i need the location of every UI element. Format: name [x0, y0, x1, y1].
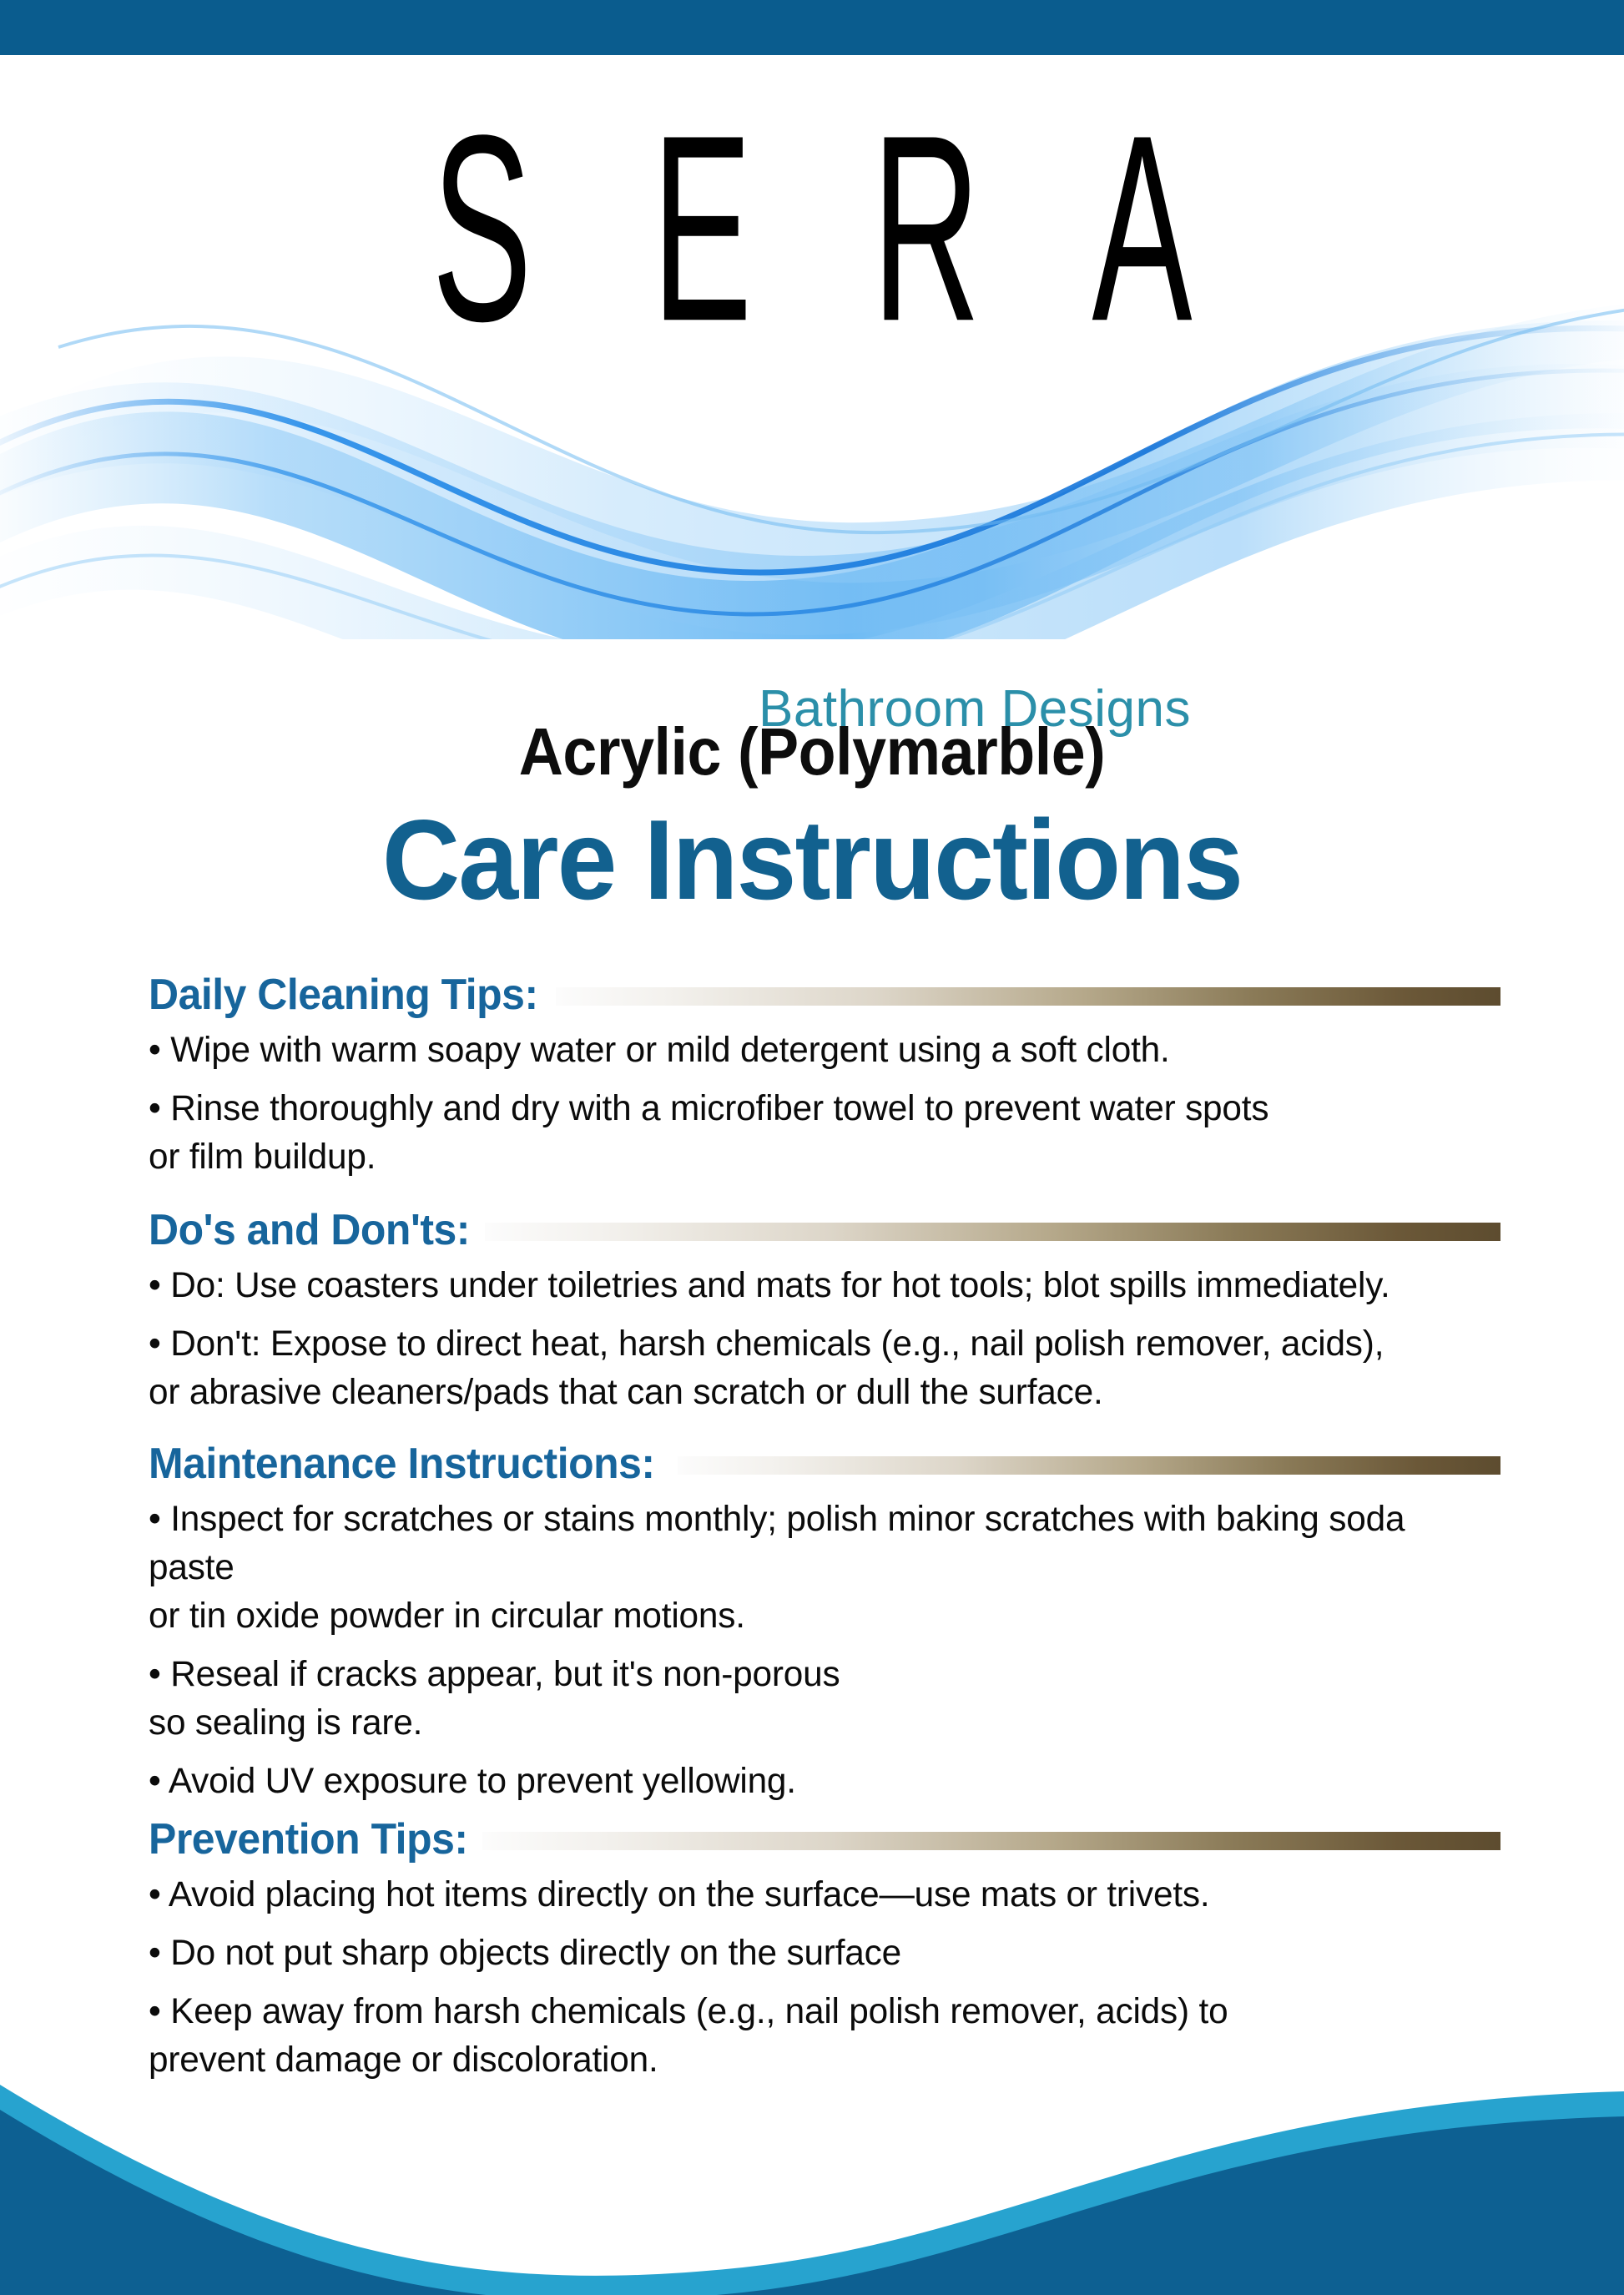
section-heading: Prevention Tips: — [149, 1814, 468, 1864]
section-divider-rule — [482, 1832, 1500, 1850]
list-item: • Do not put sharp objects directly on t… — [149, 1929, 1480, 1977]
section-header: Maintenance Instructions: — [149, 1440, 1500, 1488]
brand-logo-block: S E R A — [0, 55, 1624, 689]
list-item: • Avoid UV exposure to prevent yellowing… — [149, 1757, 1480, 1805]
section-heading: Do's and Don'ts: — [149, 1205, 470, 1255]
section-divider-rule — [485, 1223, 1500, 1241]
section-daily-cleaning-tips: Daily Cleaning Tips: • Wipe with warm so… — [149, 971, 1500, 1181]
instructions-content: Daily Cleaning Tips: • Wipe with warm so… — [149, 971, 1500, 2094]
section-header: Daily Cleaning Tips: — [149, 971, 1500, 1019]
top-accent-bar — [0, 0, 1624, 55]
section-divider-rule — [678, 1456, 1500, 1475]
blue-flow-wave-icon — [0, 222, 1624, 639]
list-item: • Reseal if cracks appear, but it's non-… — [149, 1650, 1480, 1747]
section-header: Prevention Tips: — [149, 1815, 1500, 1864]
section-maintenance-instructions: Maintenance Instructions: • Inspect for … — [149, 1440, 1500, 1805]
bullet-list: • Inspect for scratches or stains monthl… — [149, 1495, 1500, 1805]
list-item: • Rinse thoroughly and dry with a microf… — [149, 1084, 1480, 1181]
list-item: • Don't: Expose to direct heat, harsh ch… — [149, 1319, 1480, 1416]
care-instructions-poster: S E R A — [0, 0, 1624, 2295]
section-header: Do's and Don'ts: — [149, 1206, 1500, 1254]
bullet-list: • Wipe with warm soapy water or mild det… — [149, 1026, 1500, 1181]
section-heading: Maintenance Instructions: — [149, 1439, 655, 1489]
section-heading: Daily Cleaning Tips: — [149, 970, 538, 1020]
section-divider-rule — [556, 987, 1500, 1006]
list-item: • Inspect for scratches or stains monthl… — [149, 1495, 1480, 1640]
list-item: • Avoid placing hot items directly on th… — [149, 1870, 1480, 1919]
footer-wave-decoration — [0, 2045, 1624, 2295]
section-prevention-tips: Prevention Tips: • Avoid placing hot ite… — [149, 1815, 1500, 2084]
bullet-list: • Do: Use coasters under toiletries and … — [149, 1261, 1500, 1416]
list-item: • Do: Use coasters under toiletries and … — [149, 1261, 1480, 1309]
section-dos-and-donts: Do's and Don'ts: • Do: Use coasters unde… — [149, 1206, 1500, 1416]
material-title: Acrylic (Polymarble) — [65, 714, 1559, 790]
page-title: Care Instructions — [41, 803, 1584, 916]
list-item: • Wipe with warm soapy water or mild det… — [149, 1026, 1480, 1074]
